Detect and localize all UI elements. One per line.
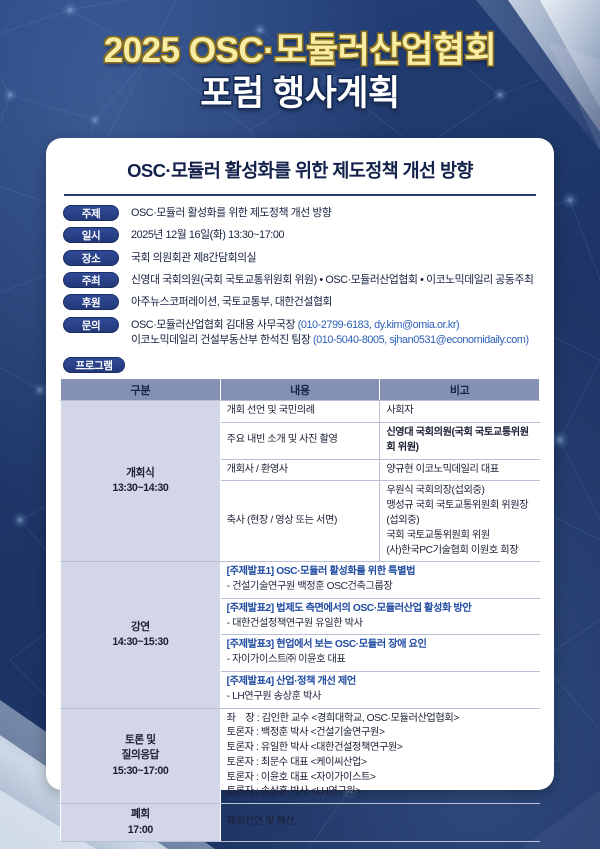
panel-line: 좌 장 : 김인한 교수 <경희대학교, OSC·모듈러산업협회>	[227, 712, 534, 727]
presentation-title: [주제발표1] OSC·모듈러 활성화를 위한 특별법	[227, 565, 534, 580]
info-label-subject: 주제	[63, 205, 119, 221]
table-row: 토론 및 질의응답 15:30~17:00 좌 장 : 김인한 교수 <경희대학…	[61, 708, 540, 804]
cell-content: 폐회선언 및 해산	[220, 804, 539, 842]
info-value-datetime: 2025년 12월 16일(화) 13:30~17:00	[131, 227, 537, 243]
cell-presentation: [주제발표3] 현업에서 보는 OSC·모듈러 장애 요인 - 자이가이스트㈜ …	[220, 635, 539, 672]
panel-line: 토론자 : 송상훈 박사 <LH연구원>	[227, 785, 534, 800]
cell-note-highlighted: 신영대 국회의원(국회 국토교통위원회 위원)	[380, 423, 540, 460]
info-row-host: 주최 신영대 국회의원(국회 국토교통위원회 위원) • OSC·모듈러산업협회…	[63, 272, 537, 288]
section-cell-panel: 토론 및 질의응답 15:30~17:00	[61, 708, 221, 804]
presentation-speaker: - 대한건설정책연구원 유일한 박사	[227, 617, 534, 632]
section-time-closing: 17:00	[128, 824, 153, 836]
table-row: 개회식 13:30~14:30 개회 선언 및 국민의례 사회자	[61, 401, 540, 423]
column-header-content: 내용	[220, 379, 380, 401]
note-line: 우원식 국회의장(섭외중)	[386, 485, 484, 496]
section-time-opening: 13:30~14:30	[112, 482, 168, 494]
card-title: OSC·모듈러 활성화를 위한 제도정책 개선 방향	[60, 138, 540, 183]
panel-line: 토론자 : 백정훈 박사 <건설기술연구원>	[227, 726, 534, 741]
section-name-panel-line1: 토론 및	[125, 734, 156, 746]
title-divider	[64, 194, 536, 196]
info-row-datetime: 일시 2025년 12월 16일(화) 13:30~17:00	[63, 227, 537, 243]
info-value-host: 신영대 국회의원(국회 국토교통위원회 위원) • OSC·모듈러산업협회 • …	[131, 272, 537, 288]
poster-title-line-1: 2025 OSC·모듈러산업협회	[0, 30, 600, 71]
info-label-contact: 문의	[63, 317, 119, 333]
info-label-host: 주최	[63, 272, 119, 288]
presentation-speaker: - LH연구원 송상훈 박사	[227, 690, 534, 705]
column-header-category: 구분	[61, 379, 221, 401]
presentation-speaker: - 자이가이스트㈜ 이윤호 대표	[227, 653, 534, 668]
poster-title-line-2: 포럼 행사계획	[0, 73, 600, 115]
section-cell-lecture: 강연 14:30~15:30	[61, 562, 221, 708]
info-row-venue: 장소 국회 의원회관 제8간담회의실	[63, 250, 537, 266]
contact-line-1-detail[interactable]: (010-2799-6183, dy.kim@omia.or.kr)	[298, 319, 460, 331]
section-name-closing: 폐회	[131, 808, 150, 820]
section-time-lecture: 14:30~15:30	[112, 636, 168, 648]
panel-line: 토론자 : 이윤호 대표 <자이가이스트>	[227, 771, 534, 786]
presentation-title: [주제발표3] 현업에서 보는 OSC·모듈러 장애 요인	[227, 638, 534, 653]
cell-presentation: [주제발표4] 산업·정책 개선 제언 - LH연구원 송상훈 박사	[220, 672, 539, 709]
column-header-note: 비고	[380, 379, 540, 401]
section-cell-closing: 폐회 17:00	[61, 804, 221, 842]
cell-presentation: [주제발표1] OSC·모듈러 활성화를 위한 특별법 - 건설기술연구원 백정…	[220, 562, 539, 599]
cell-content: 축사 (현장 / 영상 또는 서면)	[220, 481, 380, 562]
info-value-sponsor: 아주뉴스코퍼레이션, 국토교통부, 대한건설협회	[131, 294, 537, 310]
poster-root: 2025 OSC·모듈러산업협회 포럼 행사계획 OSC·모듈러 활성화를 위한…	[0, 0, 600, 849]
note-line: (사)한국PC기술협회 이원호 회장	[386, 545, 518, 556]
cell-panel-list: 좌 장 : 김인한 교수 <경희대학교, OSC·모듈러산업협회> 토론자 : …	[220, 708, 539, 804]
presentation-title: [주제발표2] 법제도 측면에서의 OSC·모듈러산업 활성화 방안	[227, 602, 534, 617]
section-name-lecture: 강연	[131, 621, 150, 633]
info-label-sponsor: 후원	[63, 294, 119, 310]
section-time-panel: 15:30~17:00	[112, 765, 168, 777]
program-label: 프로그램	[63, 357, 125, 373]
note-line: 국회 국토교통위원회 위원	[386, 530, 490, 541]
section-name-opening: 개회식	[126, 467, 154, 479]
cell-content: 개회 선언 및 국민의례	[220, 401, 380, 423]
section-name-panel-line2: 질의응답	[122, 749, 159, 761]
table-header-row: 구분 내용 비고	[61, 379, 540, 401]
cell-presentation: [주제발표2] 법제도 측면에서의 OSC·모듈러산업 활성화 방안 - 대한건…	[220, 598, 539, 635]
info-row-sponsor: 후원 아주뉴스코퍼레이션, 국토교통부, 대한건설협회	[63, 294, 537, 310]
note-line: 맹성규 국회 국토교통위원회 위원장(섭외중)	[386, 500, 528, 526]
cell-note-multiline: 우원식 국회의장(섭외중) 맹성규 국회 국토교통위원회 위원장(섭외중) 국회…	[380, 481, 540, 562]
presentation-speaker: - 건설기술연구원 백정훈 OSC건축그룹장	[227, 580, 534, 595]
cell-content: 주요 내빈 소개 및 사진 촬영	[220, 423, 380, 460]
info-row-subject: 주제 OSC·모듈러 활성화를 위한 제도정책 개선 방향	[63, 205, 537, 221]
info-value-subject: OSC·모듈러 활성화를 위한 제도정책 개선 방향	[131, 205, 537, 221]
info-value-venue: 국회 의원회관 제8간담회의실	[131, 250, 537, 266]
program-table: 구분 내용 비고 개회식 13:30~14:30 개회 선언 및 국민의례 사회…	[60, 378, 540, 842]
poster-header: 2025 OSC·모듈러산업협회 포럼 행사계획	[0, 30, 600, 115]
info-label-datetime: 일시	[63, 227, 119, 243]
info-value-contact: OSC·모듈러산업협회 김대용 사무국장 (010-2799-6183, dy.…	[131, 317, 537, 349]
section-cell-opening: 개회식 13:30~14:30	[61, 401, 221, 562]
cell-content: 개회사 / 환영사	[220, 459, 380, 481]
contact-line-2-detail[interactable]: (010-5040-8005, sjhan0531@economidaily.c…	[313, 334, 529, 346]
table-row: 강연 14:30~15:30 [주제발표1] OSC·모듈러 활성화를 위한 특…	[61, 562, 540, 599]
contact-line-1-name: OSC·모듈러산업협회 김대용 사무국장	[131, 319, 298, 331]
contact-line-2-name: 이코노믹데일리 건설부동산부 한석진 팀장	[131, 334, 313, 346]
panel-line: 토론자 : 최문수 대표 <케이씨산업>	[227, 756, 534, 771]
content-card: OSC·모듈러 활성화를 위한 제도정책 개선 방향 주제 OSC·모듈러 활성…	[46, 138, 554, 790]
presentation-title: [주제발표4] 산업·정책 개선 제언	[227, 675, 534, 690]
cell-note: 사회자	[380, 401, 540, 423]
table-row: 폐회 17:00 폐회선언 및 해산	[61, 804, 540, 842]
program-label-wrap: 프로그램	[60, 357, 540, 373]
info-label-venue: 장소	[63, 250, 119, 266]
info-list: 주제 OSC·모듈러 활성화를 위한 제도정책 개선 방향 일시 2025년 1…	[60, 205, 540, 348]
panel-line: 토론자 : 유일한 박사 <대한건설정책연구원>	[227, 741, 534, 756]
cell-note: 양규현 이코노믹데일리 대표	[380, 459, 540, 481]
info-row-contact: 문의 OSC·모듈러산업협회 김대용 사무국장 (010-2799-6183, …	[63, 317, 537, 349]
